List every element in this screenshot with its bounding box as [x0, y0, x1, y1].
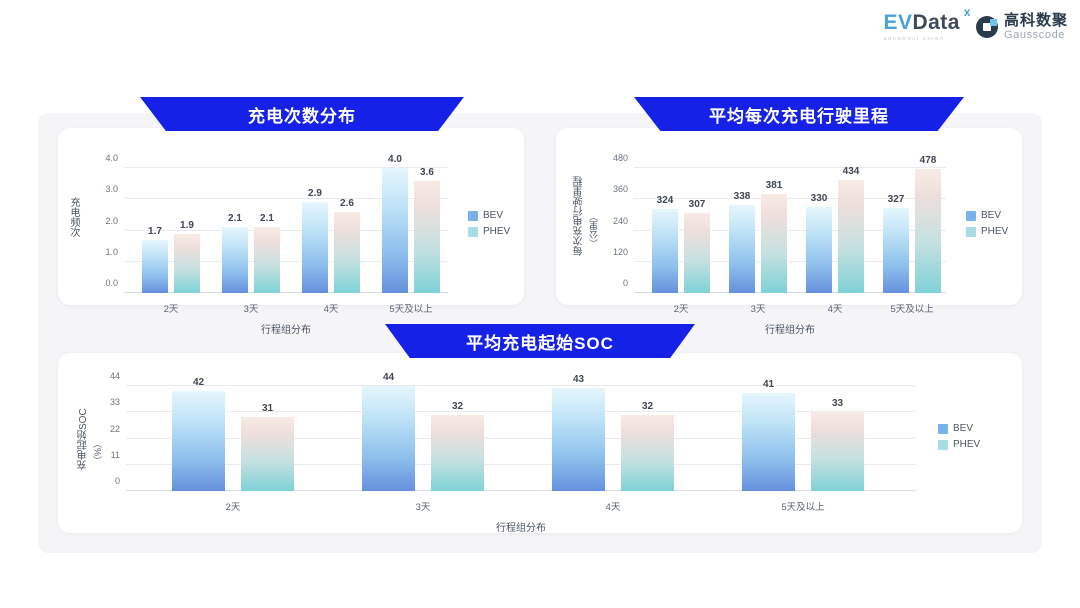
legend-item-bev[interactable]: BEV	[966, 210, 1008, 221]
chart-card-charge-frequency: 充电频次 4.0 3.0 2.0 1.0 0.0 1.7 1.9 2天 2.1 …	[58, 128, 524, 305]
legend-label-phev: PHEV	[981, 226, 1008, 237]
chart3-xtick-1: 3天	[416, 499, 431, 513]
chart3-xtick-0: 2天	[226, 499, 241, 513]
chart1-legend: BEV PHEV	[468, 210, 510, 237]
bar-value: 2.1	[260, 213, 274, 224]
bar-value: 43	[573, 374, 584, 385]
bar-value: 3.6	[420, 167, 434, 178]
bar-value: 330	[811, 193, 828, 204]
legend-swatch-phev-icon	[468, 227, 478, 237]
legend-label-phev: PHEV	[953, 439, 980, 450]
legend-item-bev[interactable]: BEV	[938, 423, 980, 434]
chart-title-text: 平均每次充电行驶里程	[709, 102, 889, 127]
bar-value: 32	[642, 401, 653, 412]
bar-bev-4days: 2.9	[302, 202, 328, 293]
chart1-ytick-2: 2.0	[105, 216, 118, 226]
chart3-x-axis-label: 行程组分布	[496, 519, 546, 534]
bar-phev-2days: 1.9	[174, 234, 200, 293]
chart2-xtick-0: 2天	[674, 301, 689, 315]
bar-value: 33	[832, 398, 843, 409]
bar-phev-5days: 3.6	[414, 181, 440, 294]
chart-card-avg-start-soc: 充电起始SOC （%） 44 33 22 11 0 42 31 2天 44 32…	[58, 353, 1022, 533]
chart1-xtick-0: 2天	[164, 301, 179, 315]
chart2-xtick-3: 5天及以上	[890, 301, 933, 315]
chart3-ytick-0: 0	[115, 476, 120, 486]
chart3-plot-area: 44 33 22 11 0 42 31 2天 44 32 3天 43 32 4天…	[126, 386, 916, 491]
bar-value: 1.9	[180, 220, 194, 231]
bar-value: 1.7	[148, 226, 162, 237]
bar-phev-5days: 478	[915, 169, 941, 294]
bar-value: 4.0	[388, 154, 402, 165]
chart-card-avg-distance: 每次充电行驶里程 （公里） 480 360 240 120 0 324 307 …	[556, 128, 1022, 305]
bar-phev-3days: 32	[431, 415, 484, 491]
bar-bev-3days: 44	[362, 386, 415, 491]
gausscode-logo-icon: 高科数聚 Gausscode	[976, 13, 1068, 41]
bar-value: 2.6	[340, 198, 354, 209]
chart3-xtick-3: 5天及以上	[781, 499, 824, 513]
bar-value: 44	[383, 372, 394, 383]
chart1-x-axis-label: 行程组分布	[261, 321, 311, 336]
bar-phev-3days: 2.1	[254, 227, 280, 293]
bar-value: 327	[888, 194, 905, 205]
legend-label-bev: BEV	[981, 210, 1001, 221]
chart1-plot-area: 4.0 3.0 2.0 1.0 0.0 1.7 1.9 2天 2.1 2.1 3…	[124, 168, 448, 293]
gausscode-mark-icon	[976, 16, 998, 38]
chart1-ytick-1: 1.0	[105, 247, 118, 257]
bar-value: 2.9	[308, 188, 322, 199]
legend-swatch-bev-icon	[468, 211, 478, 221]
chart1-y-axis-label: 充电频次	[66, 174, 81, 260]
bar-value: 324	[657, 195, 674, 206]
chart2-x-axis-label: 行程组分布	[765, 321, 815, 336]
evdata-logo-sub: SHANGHAI CHINA	[883, 36, 944, 41]
legend-swatch-phev-icon	[966, 227, 976, 237]
bar-value: 32	[452, 401, 463, 412]
legend-item-phev[interactable]: PHEV	[966, 226, 1008, 237]
bar-bev-4days: 330	[806, 207, 832, 293]
bar-value: 478	[920, 155, 937, 166]
evdata-logo-ev: EV	[883, 11, 912, 34]
legend-swatch-bev-icon	[966, 211, 976, 221]
chart-title-text: 平均充电起始SOC	[466, 329, 614, 354]
chart3-xtick-2: 4天	[606, 499, 621, 513]
chart2-ytick-3: 360	[613, 184, 628, 194]
gausscode-logo-en: Gausscode	[1004, 30, 1068, 41]
evdata-logo-data: Data	[912, 11, 960, 34]
chart2-ytick-4: 480	[613, 153, 628, 163]
bar-phev-4days: 434	[838, 180, 864, 293]
evdata-logo-mark: x	[964, 6, 971, 18]
evdata-logo-icon: EVDatax SHANGHAI CHINA	[883, 12, 960, 41]
chart3-y-axis-label: 充电起始SOC	[76, 389, 91, 489]
legend-label-bev: BEV	[483, 210, 503, 221]
chart2-y-axis-label: 每次充电行驶里程	[572, 158, 587, 274]
bar-bev-2days: 324	[652, 209, 678, 293]
chart2-plot-area: 480 360 240 120 0 324 307 2天 338 381 3天 …	[634, 168, 946, 293]
chart3-legend: BEV PHEV	[938, 423, 980, 450]
bar-value: 434	[843, 166, 860, 177]
chart3-y-axis-unit: （%）	[91, 425, 104, 465]
chart2-xtick-1: 3天	[751, 301, 766, 315]
chart2-ytick-1: 120	[613, 247, 628, 257]
bar-value: 381	[766, 180, 783, 191]
legend-item-bev[interactable]: BEV	[468, 210, 510, 221]
legend-item-phev[interactable]: PHEV	[468, 226, 510, 237]
bar-bev-5days: 327	[883, 208, 909, 293]
chart3-ytick-4: 44	[110, 371, 120, 381]
chart2-ytick-0: 0	[623, 278, 628, 288]
bar-phev-2days: 307	[684, 213, 710, 293]
chart-title-banner-charge-frequency: 充电次数分布	[140, 97, 464, 131]
chart-title-banner-avg-start-soc: 平均充电起始SOC	[385, 324, 695, 358]
bar-value: 42	[193, 377, 204, 388]
bar-bev-5days: 4.0	[382, 168, 408, 293]
chart1-ytick-0: 0.0	[105, 278, 118, 288]
bar-phev-4days: 32	[621, 415, 674, 491]
slide-root: EVDatax SHANGHAI CHINA 高科数聚 Gausscode 充电…	[0, 0, 1080, 608]
bar-value: 307	[689, 199, 706, 210]
bar-phev-4days: 2.6	[334, 212, 360, 293]
legend-swatch-bev-icon	[938, 424, 948, 434]
legend-swatch-phev-icon	[938, 440, 948, 450]
chart3-ytick-3: 33	[110, 397, 120, 407]
bar-value: 41	[763, 379, 774, 390]
legend-label-bev: BEV	[953, 423, 973, 434]
chart2-xtick-2: 4天	[828, 301, 843, 315]
bar-bev-3days: 2.1	[222, 227, 248, 293]
chart-title-text: 充电次数分布	[248, 102, 356, 127]
bar-bev-4days: 43	[552, 388, 605, 491]
chart3-ytick-1: 11	[111, 450, 120, 460]
bar-phev-2days: 31	[241, 417, 294, 491]
bar-phev-3days: 381	[761, 194, 787, 293]
legend-item-phev[interactable]: PHEV	[938, 439, 980, 450]
gausscode-logo-cn: 高科数聚	[1004, 13, 1068, 28]
chart3-ytick-2: 22	[110, 424, 120, 434]
chart2-legend: BEV PHEV	[966, 210, 1008, 237]
chart-title-banner-avg-distance: 平均每次充电行驶里程	[634, 97, 964, 131]
legend-label-phev: PHEV	[483, 226, 510, 237]
chart1-xtick-2: 4天	[324, 301, 339, 315]
chart1-ytick-4: 4.0	[105, 153, 118, 163]
bar-phev-5days: 33	[811, 412, 864, 491]
bar-bev-5days: 41	[742, 393, 795, 491]
bar-bev-3days: 338	[729, 205, 755, 293]
chart1-ytick-3: 3.0	[105, 184, 118, 194]
bar-value: 338	[734, 191, 751, 202]
bar-bev-2days: 42	[172, 391, 225, 491]
header-logos: EVDatax SHANGHAI CHINA 高科数聚 Gausscode	[883, 12, 1068, 41]
chart2-y-axis-unit: （公里）	[587, 190, 600, 248]
bar-value: 2.1	[228, 213, 242, 224]
bar-value: 31	[262, 403, 273, 414]
bar-bev-2days: 1.7	[142, 240, 168, 293]
chart2-ytick-2: 240	[613, 216, 628, 226]
chart1-xtick-1: 3天	[244, 301, 259, 315]
chart1-xtick-3: 5天及以上	[389, 301, 432, 315]
